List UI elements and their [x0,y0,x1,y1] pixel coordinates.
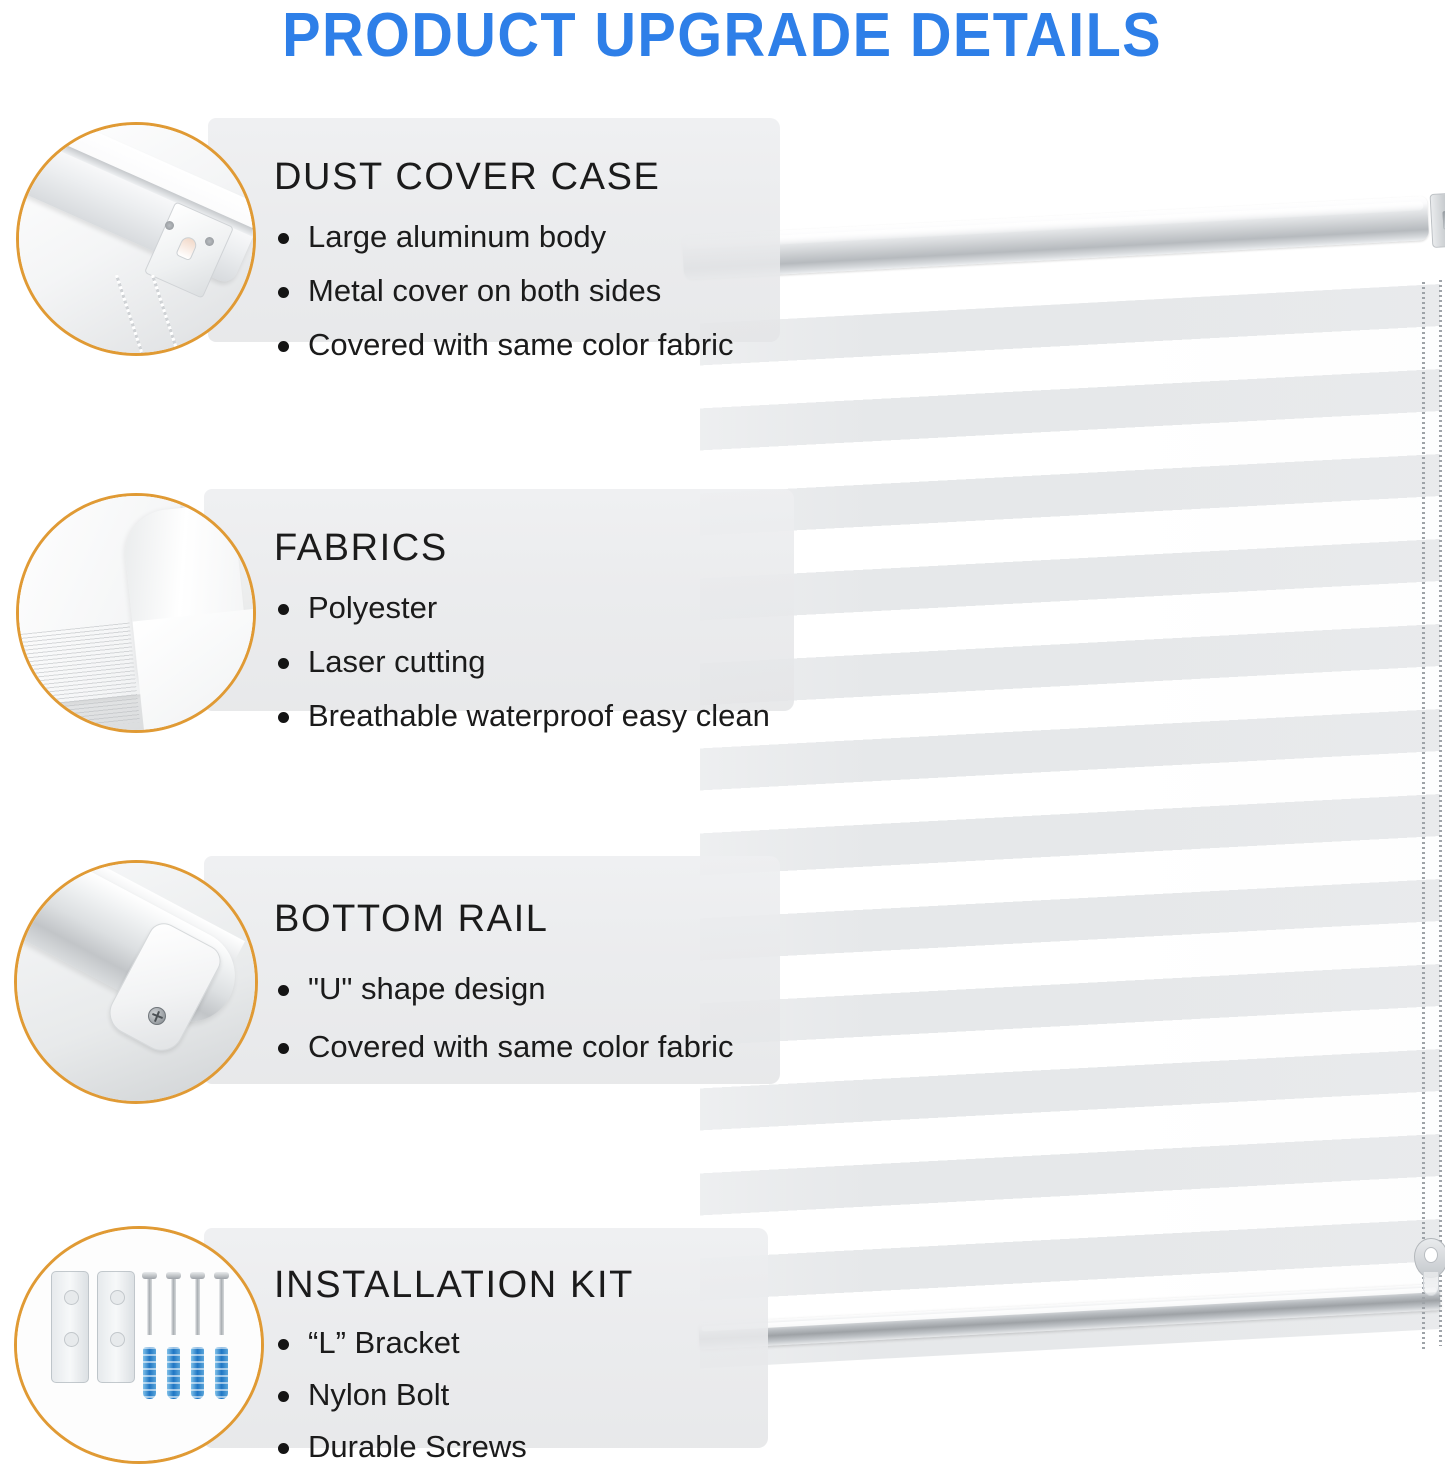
feature-panel-bottom-rail: BOTTOM RAIL "U" shape design Covered wit… [204,856,780,1084]
feature-heading-bottom-rail: BOTTOM RAIL [274,900,780,940]
bead-chain-loop [1422,282,1425,1350]
zebra-roller-blind [682,196,1445,1326]
fabric-sheet [133,607,256,733]
nylon-bolt-icon [143,1347,156,1399]
bead-chain-loop [1439,280,1442,1346]
list-item: "U" shape design [274,972,780,1006]
nylon-bolt-icon [191,1347,204,1399]
list-item: Polyester [274,591,794,625]
page-title-text: PRODUCT UPGRADE DETAILS [283,5,1163,67]
feature-bullets-dust-cover-case: Large aluminum body Metal cover on both … [274,220,780,362]
list-item: Metal cover on both sides [274,274,780,308]
headrail-end-cap [1430,193,1445,248]
zebra-striped-fabric [700,284,1440,1368]
screw-icon [195,1277,200,1335]
feature-block-installation-kit: INSTALLATION KIT “L” Bracket Nylon Bolt … [8,1224,788,1468]
feature-bullets-installation-kit: “L” Bracket Nylon Bolt Durable Screws [274,1326,768,1464]
nylon-bolt-icon [167,1347,180,1399]
list-item: Nylon Bolt [274,1378,768,1412]
screw-icon [165,221,174,230]
chain-connector-hole-icon [1424,1247,1438,1263]
list-item: Covered with same color fabric [274,328,780,362]
chain-connector-tail [1423,1272,1439,1296]
nylon-bolt-icon [215,1347,228,1399]
page-title: PRODUCT UPGRADE DETAILS [0,0,1445,72]
list-item: “L” Bracket [274,1326,768,1360]
screw-icon [148,1007,166,1025]
feature-heading-dust-cover-case: DUST COVER CASE [274,158,780,198]
l-bracket-icon [51,1271,89,1383]
installation-kit-photo [14,1226,264,1464]
screw-icon [171,1277,176,1335]
feature-block-dust-cover-case: DUST COVER CASE Large aluminum body Meta… [8,118,788,358]
screw-icon [205,237,214,246]
bottom-rail-photo [14,860,258,1104]
list-item: Breathable waterproof easy clean [274,699,794,733]
feature-heading-installation-kit: INSTALLATION KIT [274,1266,768,1306]
feature-block-fabrics: FABRICS Polyester Laser cutting Breathab… [8,487,808,733]
feature-panel-dust-cover-case: DUST COVER CASE Large aluminum body Meta… [208,118,780,342]
feature-panel-installation-kit: INSTALLATION KIT “L” Bracket Nylon Bolt … [204,1228,768,1448]
fabrics-photo [16,493,256,733]
feature-block-bottom-rail: BOTTOM RAIL "U" shape design Covered wit… [8,856,798,1106]
dust-cover-case-illustration [19,125,253,353]
installation-kit-illustration [17,1229,261,1461]
dust-cover-headrail [682,196,1429,280]
mesh-texture [20,623,140,733]
list-item: Durable Screws [274,1430,768,1464]
feature-panel-fabrics: FABRICS Polyester Laser cutting Breathab… [204,489,794,711]
screw-icon [219,1277,224,1335]
list-item: Covered with same color fabric [274,1030,780,1064]
l-bracket-icon [97,1271,135,1383]
feature-bullets-bottom-rail: "U" shape design Covered with same color… [274,972,780,1064]
chain-connector [1414,1238,1445,1296]
list-item: Laser cutting [274,645,794,679]
feature-bullets-fabrics: Polyester Laser cutting Breathable water… [274,591,794,733]
infographic-canvas: PRODUCT UPGRADE DETAILS DUST COVER CASE … [0,0,1445,1479]
list-item: Large aluminum body [274,220,780,254]
feature-heading-fabrics: FABRICS [274,529,794,569]
dust-cover-case-photo [16,122,256,356]
bottom-rail-illustration [17,863,255,1101]
screw-icon [147,1277,152,1335]
fabrics-illustration [19,496,253,730]
